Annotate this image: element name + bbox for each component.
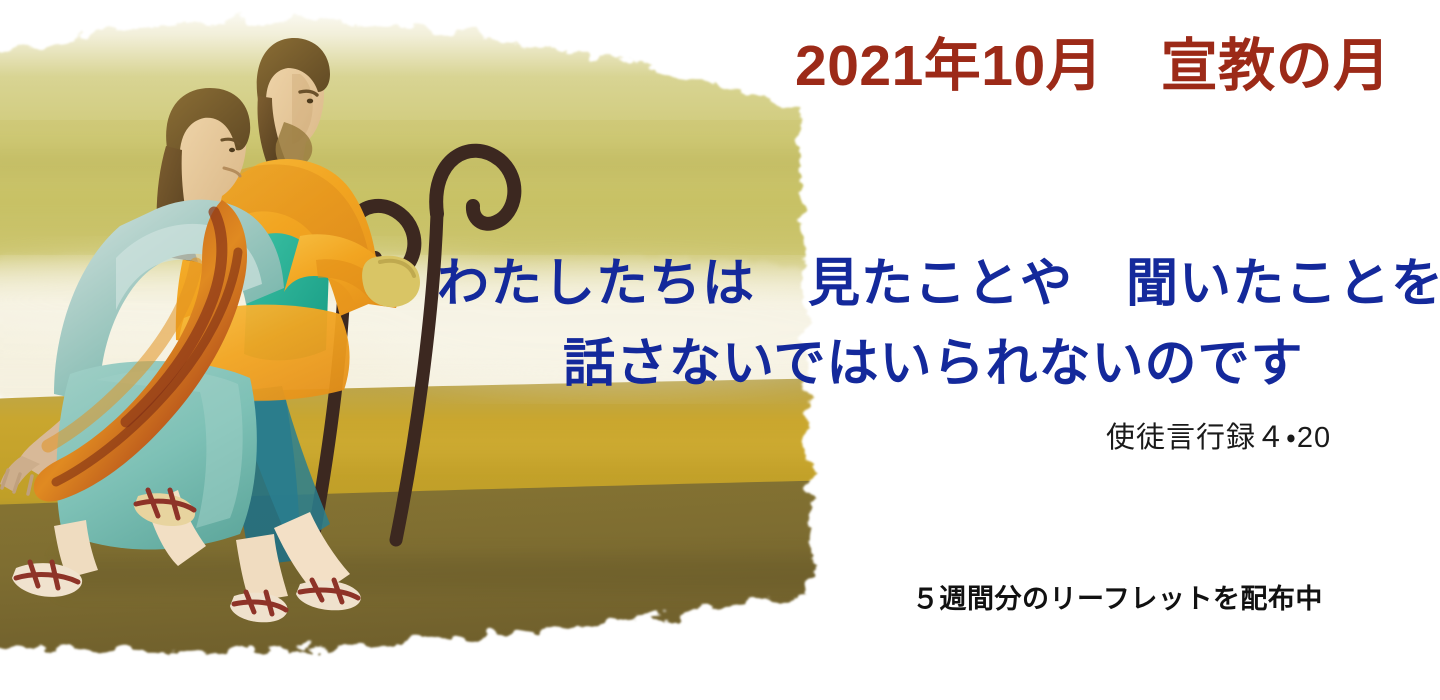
page-title: 2021年10月 宣教の月 xyxy=(795,34,1391,100)
leaflet-distribution-note: ５週間分のリーフレットを配布中 xyxy=(912,577,1323,616)
scripture-line-1: わたしたちは 見たことや 聞いたことを xyxy=(437,256,1440,313)
scripture-line-2: 話さないではいられないのです xyxy=(563,336,1303,393)
scripture-citation: 使徒言行録４・20 xyxy=(1106,414,1331,456)
poster-canvas: 2021年10月 宣教の月 わたしたちは 見たことや 聞いたことを 話さないでは… xyxy=(0,0,1440,700)
illustration-travelers xyxy=(0,0,840,660)
